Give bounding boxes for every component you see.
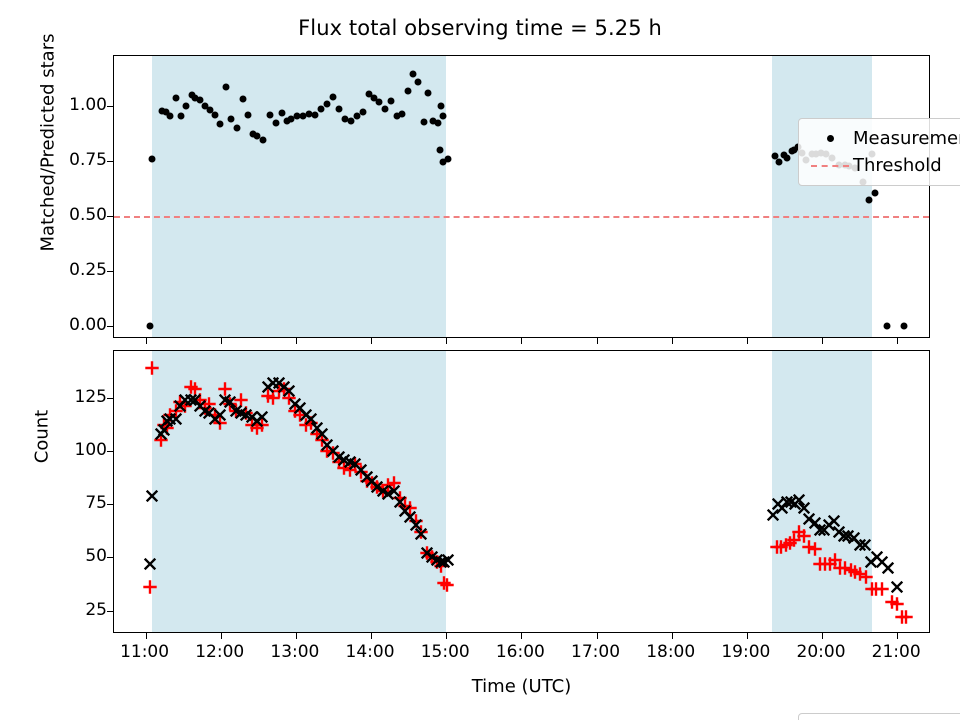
- measurement-point: [387, 97, 394, 104]
- legend-item-threshold[interactable]: Threshold: [807, 152, 960, 179]
- predicted-star-marker: [255, 409, 270, 424]
- x-tick: [521, 337, 522, 344]
- y-tick: [107, 106, 114, 107]
- matched-star-marker: [143, 580, 158, 595]
- measurement-point: [228, 115, 235, 122]
- measurement-point: [776, 159, 783, 166]
- y-tick-label: 100: [75, 440, 107, 460]
- x-tick-label: 15:00: [421, 642, 470, 662]
- measurement-point: [404, 88, 411, 95]
- measurement-point: [415, 79, 422, 86]
- ratio-plot-area: [114, 56, 929, 337]
- legend-item-measurements[interactable]: Measurements: [807, 125, 960, 152]
- measurement-point: [900, 322, 907, 329]
- measurement-point: [425, 90, 432, 97]
- threshold-dash-icon: [807, 165, 853, 167]
- x-tick: [822, 337, 823, 344]
- x-tick: [221, 337, 222, 344]
- y-tick-label: 0.75: [69, 150, 107, 170]
- predicted-star-marker: [414, 526, 429, 541]
- predicted-star-marker: [168, 412, 183, 427]
- measurement-point: [784, 155, 791, 162]
- measurement-point: [444, 156, 451, 163]
- x-tick: [296, 632, 297, 639]
- x-axis-label: Time (UTC): [113, 676, 930, 697]
- x-tick-label: 11:00: [120, 642, 169, 662]
- matched-star-marker: [807, 541, 822, 556]
- predicted-star-marker: [144, 488, 159, 503]
- measurement-point: [212, 112, 219, 119]
- y-tick-label: 0.00: [69, 315, 107, 335]
- measurement-point: [172, 94, 179, 101]
- legend-label-measurements: Measurements: [853, 128, 960, 149]
- measurement-point: [437, 147, 444, 154]
- y-tick-label: 25: [85, 600, 107, 620]
- measurement-point: [216, 121, 223, 128]
- y-tick: [107, 161, 114, 162]
- count-y-axis-label: Count: [32, 237, 53, 637]
- x-tick: [897, 337, 898, 344]
- x-tick: [446, 632, 447, 639]
- measurement-point: [183, 103, 190, 110]
- measurement-point: [196, 96, 203, 103]
- measurement-point: [311, 112, 318, 119]
- measurement-point: [323, 101, 330, 108]
- measurement-point: [167, 113, 174, 120]
- x-tick: [597, 632, 598, 639]
- count-panel: Matched stars Predicted stars: [113, 350, 930, 633]
- y-tick: [107, 451, 114, 452]
- measurement-point: [871, 190, 878, 197]
- y-tick: [107, 326, 114, 327]
- measurement-point: [330, 93, 337, 100]
- x-tick-label: 17:00: [571, 642, 620, 662]
- x-tick: [146, 337, 147, 344]
- measurement-point: [267, 112, 274, 119]
- count-plot-area: [114, 351, 929, 632]
- x-tick-label: 16:00: [496, 642, 545, 662]
- predicted-star-marker: [143, 556, 158, 571]
- measurement-point: [865, 196, 872, 203]
- measurement-point: [359, 108, 366, 115]
- measurement-point: [273, 119, 280, 126]
- x-tick: [446, 337, 447, 344]
- measurement-point: [440, 113, 447, 120]
- measurement-point: [177, 113, 184, 120]
- y-tick-label: 50: [85, 546, 107, 566]
- measurement-point: [376, 99, 383, 106]
- legend-label-threshold: Threshold: [853, 155, 942, 176]
- x-tick-label: 19:00: [721, 642, 770, 662]
- x-tick: [897, 632, 898, 639]
- x-tick-label: 14:00: [346, 642, 395, 662]
- measurements-dot-icon: [807, 135, 853, 142]
- y-tick-label: 0.25: [69, 260, 107, 280]
- measurement-point: [410, 70, 417, 77]
- y-tick-label: 0.50: [69, 205, 107, 225]
- x-tick: [371, 632, 372, 639]
- x-tick-label: 13:00: [270, 642, 319, 662]
- measurement-point: [437, 103, 444, 110]
- x-tick-label: 18:00: [646, 642, 695, 662]
- x-tick: [672, 337, 673, 344]
- x-tick: [221, 632, 222, 639]
- x-tick: [597, 337, 598, 344]
- measurement-point: [239, 95, 246, 102]
- matched-star-marker: [439, 578, 454, 593]
- x-tick: [747, 632, 748, 639]
- predicted-star-marker: [881, 561, 896, 576]
- y-tick: [107, 611, 114, 612]
- x-tick: [296, 337, 297, 344]
- measurement-point: [222, 83, 229, 90]
- measurement-point: [244, 112, 251, 119]
- y-tick: [107, 557, 114, 558]
- chart-title: Flux total observing time = 5.25 h: [0, 16, 960, 40]
- y-tick: [107, 216, 114, 217]
- matched-star-marker: [899, 609, 914, 624]
- measurement-point: [147, 322, 154, 329]
- x-tick: [672, 632, 673, 639]
- x-tick: [371, 337, 372, 344]
- y-tick-label: 125: [75, 387, 107, 407]
- figure-canvas: Flux total observing time = 5.25 h Measu…: [0, 0, 960, 720]
- matched-star-marker: [144, 361, 159, 376]
- measurement-point: [382, 105, 389, 112]
- ratio-legend[interactable]: Measurements Threshold: [798, 118, 960, 186]
- measurement-point: [148, 156, 155, 163]
- y-tick-label: 75: [85, 493, 107, 513]
- measurement-point: [398, 111, 405, 118]
- x-tick: [521, 632, 522, 639]
- y-tick: [107, 398, 114, 399]
- observing-band-2: [772, 351, 873, 632]
- x-tick: [747, 337, 748, 344]
- measurement-point: [234, 125, 241, 132]
- count-legend[interactable]: Matched stars Predicted stars: [798, 713, 960, 720]
- x-tick-label: 12:00: [195, 642, 244, 662]
- y-tick-label: 1.00: [69, 95, 107, 115]
- observing-band-2: [772, 56, 873, 337]
- predicted-star-marker: [890, 580, 905, 595]
- x-tick-label: 20:00: [797, 642, 846, 662]
- measurement-point: [278, 110, 285, 117]
- y-tick: [107, 504, 114, 505]
- measurement-point: [883, 322, 890, 329]
- measurement-point: [336, 105, 343, 112]
- threshold-line: [114, 216, 929, 218]
- measurement-point: [259, 137, 266, 144]
- measurement-point: [421, 118, 428, 125]
- x-tick: [822, 632, 823, 639]
- x-tick-label: 21:00: [872, 642, 921, 662]
- y-tick: [107, 271, 114, 272]
- x-tick: [146, 632, 147, 639]
- ratio-panel: Measurements Threshold: [113, 55, 930, 338]
- predicted-star-marker: [212, 407, 227, 422]
- measurement-point: [434, 119, 441, 126]
- predicted-star-marker: [441, 552, 456, 567]
